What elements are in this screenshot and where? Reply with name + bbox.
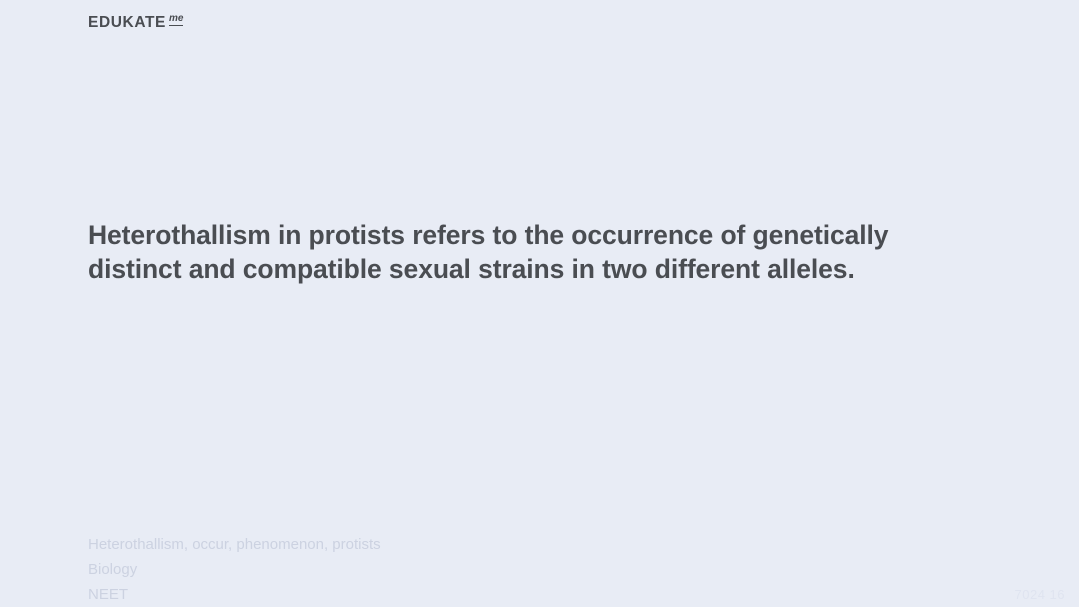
brand-superscript-text: me [169, 14, 183, 26]
meta-subject: Biology [88, 557, 381, 582]
meta-block: Heterothallism, occur, phenomenon, proti… [88, 532, 381, 607]
meta-exam: NEET [88, 582, 381, 607]
slide-canvas: EDUKATE me Heterothallism in protists re… [0, 0, 1079, 607]
statement-text: Heterothallism in protists refers to the… [88, 218, 988, 286]
brand-name-text: EDUKATE [88, 15, 166, 31]
corner-watermark: 7024 16 [1015, 587, 1066, 602]
meta-keywords: Heterothallism, occur, phenomenon, proti… [88, 532, 381, 557]
brand-logo[interactable]: EDUKATE me [88, 15, 183, 31]
